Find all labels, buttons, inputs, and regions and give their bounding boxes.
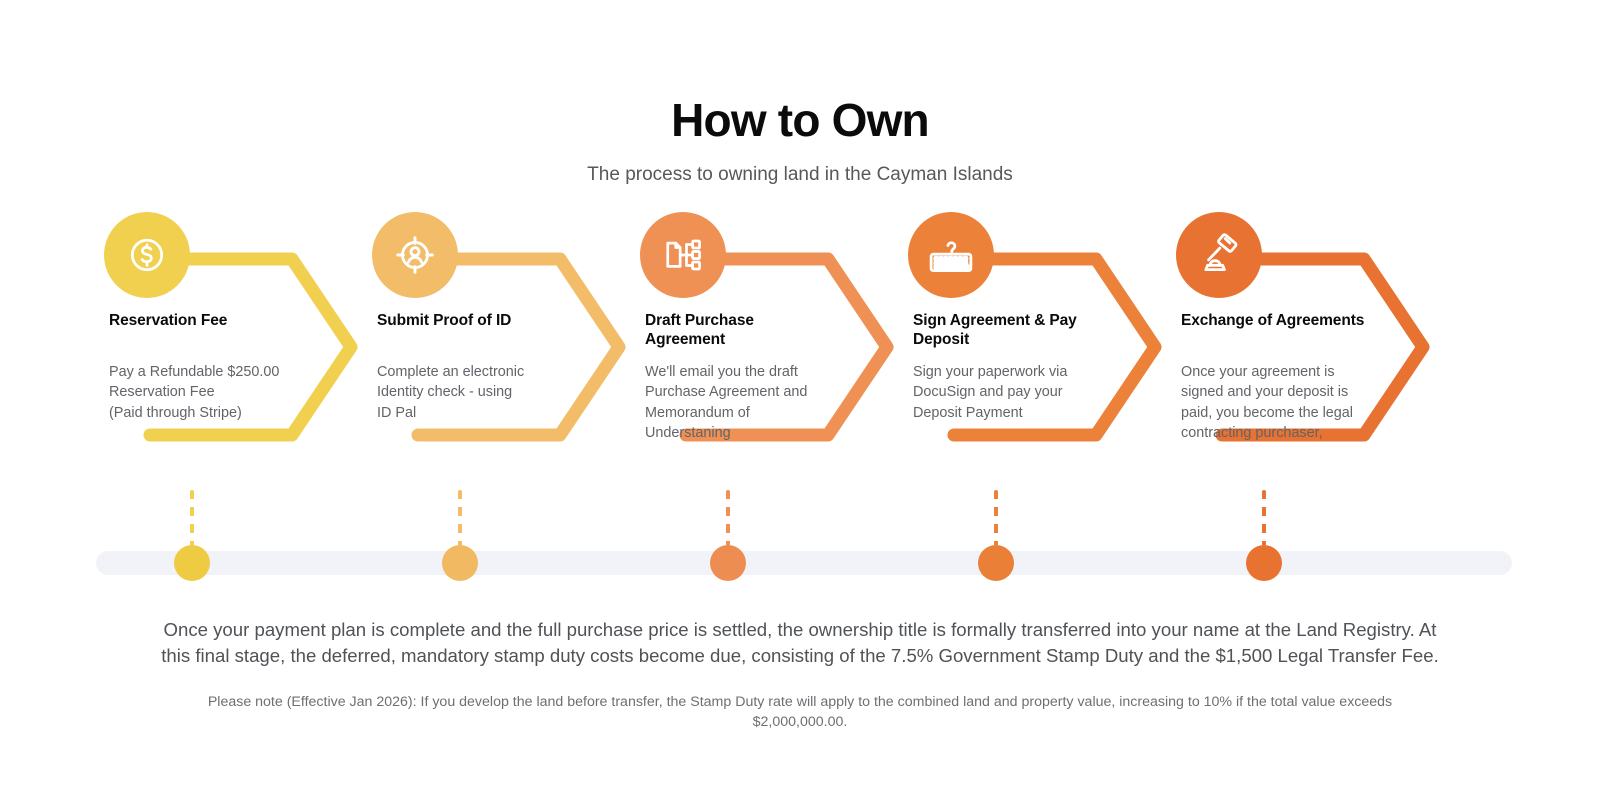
infographic-page: How to Own The process to owning land in… (0, 0, 1600, 789)
step-title: Draft Purchase Agreement (645, 312, 835, 350)
step-title: Submit Proof of ID (377, 312, 567, 331)
step-reservation-fee: Reservation FeePay a Refundable $250.00 … (96, 212, 380, 482)
step-description: Pay a Refundable $250.00 Reservation Fee… (109, 362, 305, 423)
step-description: Once your agreement is signed and your d… (1181, 362, 1377, 443)
step-description: Sign your paperwork via DocuSign and pay… (913, 362, 1109, 423)
timeline-dot (442, 545, 478, 581)
timeline-dot (710, 545, 746, 581)
dollar-coin-icon (104, 212, 190, 298)
gavel-icon (1176, 212, 1262, 298)
process-steps: Reservation FeePay a Refundable $250.00 … (96, 212, 1512, 482)
document-flowchart-icon (640, 212, 726, 298)
footer-paragraph: Once your payment plan is complete and t… (160, 617, 1440, 668)
timeline-connector (1262, 490, 1266, 546)
header: How to Own The process to owning land in… (0, 96, 1600, 187)
footer-note: Please note (Effective Jan 2026): If you… (190, 692, 1410, 732)
id-target-person-icon (372, 212, 458, 298)
timeline-dot (1246, 545, 1282, 581)
timeline-connector (458, 490, 462, 546)
step-draft-purchase-agreement: Draft Purchase AgreementWe'll email you … (632, 212, 916, 482)
timeline-track (96, 551, 1512, 575)
page-subtitle: The process to owning land in the Cayman… (0, 164, 1600, 187)
step-description: Complete an electronic Identity check - … (377, 362, 573, 423)
keyboard-icon (908, 212, 994, 298)
step-description: We'll email you the draft Purchase Agree… (645, 362, 841, 443)
timeline-connector (726, 490, 730, 546)
timeline-connector (190, 490, 194, 546)
step-title: Reservation Fee (109, 312, 299, 331)
step-title: Sign Agreement & Pay Deposit (913, 312, 1103, 350)
step-submit-proof-of-id: Submit Proof of IDComplete an electronic… (364, 212, 648, 482)
page-title: How to Own (0, 96, 1600, 144)
step-exchange-of-agreements: Exchange of AgreementsOnce your agreemen… (1168, 212, 1452, 482)
timeline-connector (994, 490, 998, 546)
step-title: Exchange of Agreements (1181, 312, 1371, 331)
timeline-dot (174, 545, 210, 581)
step-sign-agreement-pay-deposit: Sign Agreement & Pay DepositSign your pa… (900, 212, 1184, 482)
timeline-dot (978, 545, 1014, 581)
